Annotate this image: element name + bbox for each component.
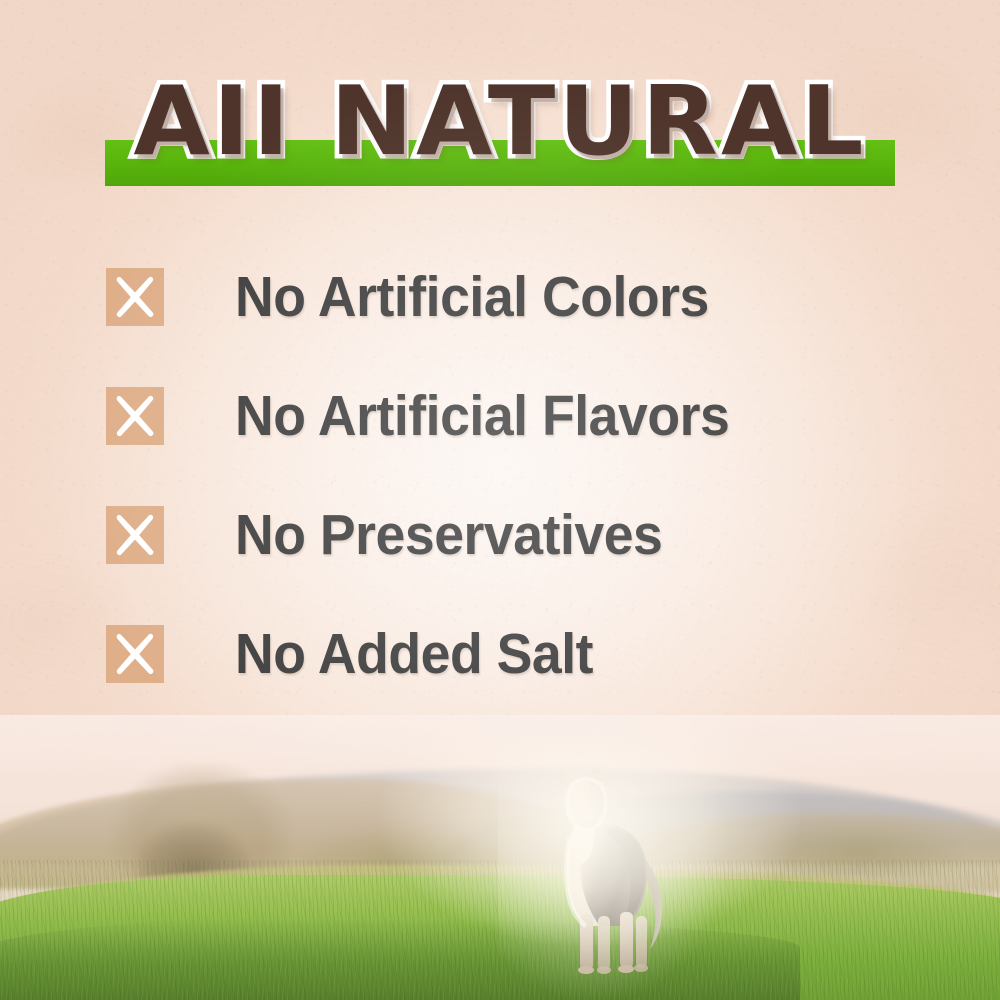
all-natural-poster: AII NATURAL No Artificial Colors No Arti… xyxy=(0,0,1000,1000)
feature-label: No Preservatives xyxy=(235,506,662,564)
x-mark-icon xyxy=(106,268,164,326)
x-mark-icon xyxy=(106,625,164,683)
feature-label: No Artificial Colors xyxy=(235,268,709,326)
border-collie-dog xyxy=(528,766,688,976)
title-banner: AII NATURAL xyxy=(0,62,1000,197)
feature-list: No Artificial Colors No Artificial Flavo… xyxy=(106,258,936,693)
feature-label: No Added Salt xyxy=(235,625,593,683)
x-mark-icon xyxy=(106,506,164,564)
list-item: No Added Salt xyxy=(106,615,936,693)
grass-texture xyxy=(0,860,1000,1000)
list-item: No Artificial Colors xyxy=(106,258,936,336)
landscape-photo xyxy=(0,715,1000,1000)
x-mark-icon xyxy=(106,387,164,445)
feature-label: No Artificial Flavors xyxy=(235,387,729,445)
list-item: No Preservatives xyxy=(106,496,936,574)
page-title: AII NATURAL xyxy=(0,62,1000,182)
list-item: No Artificial Flavors xyxy=(106,377,936,455)
